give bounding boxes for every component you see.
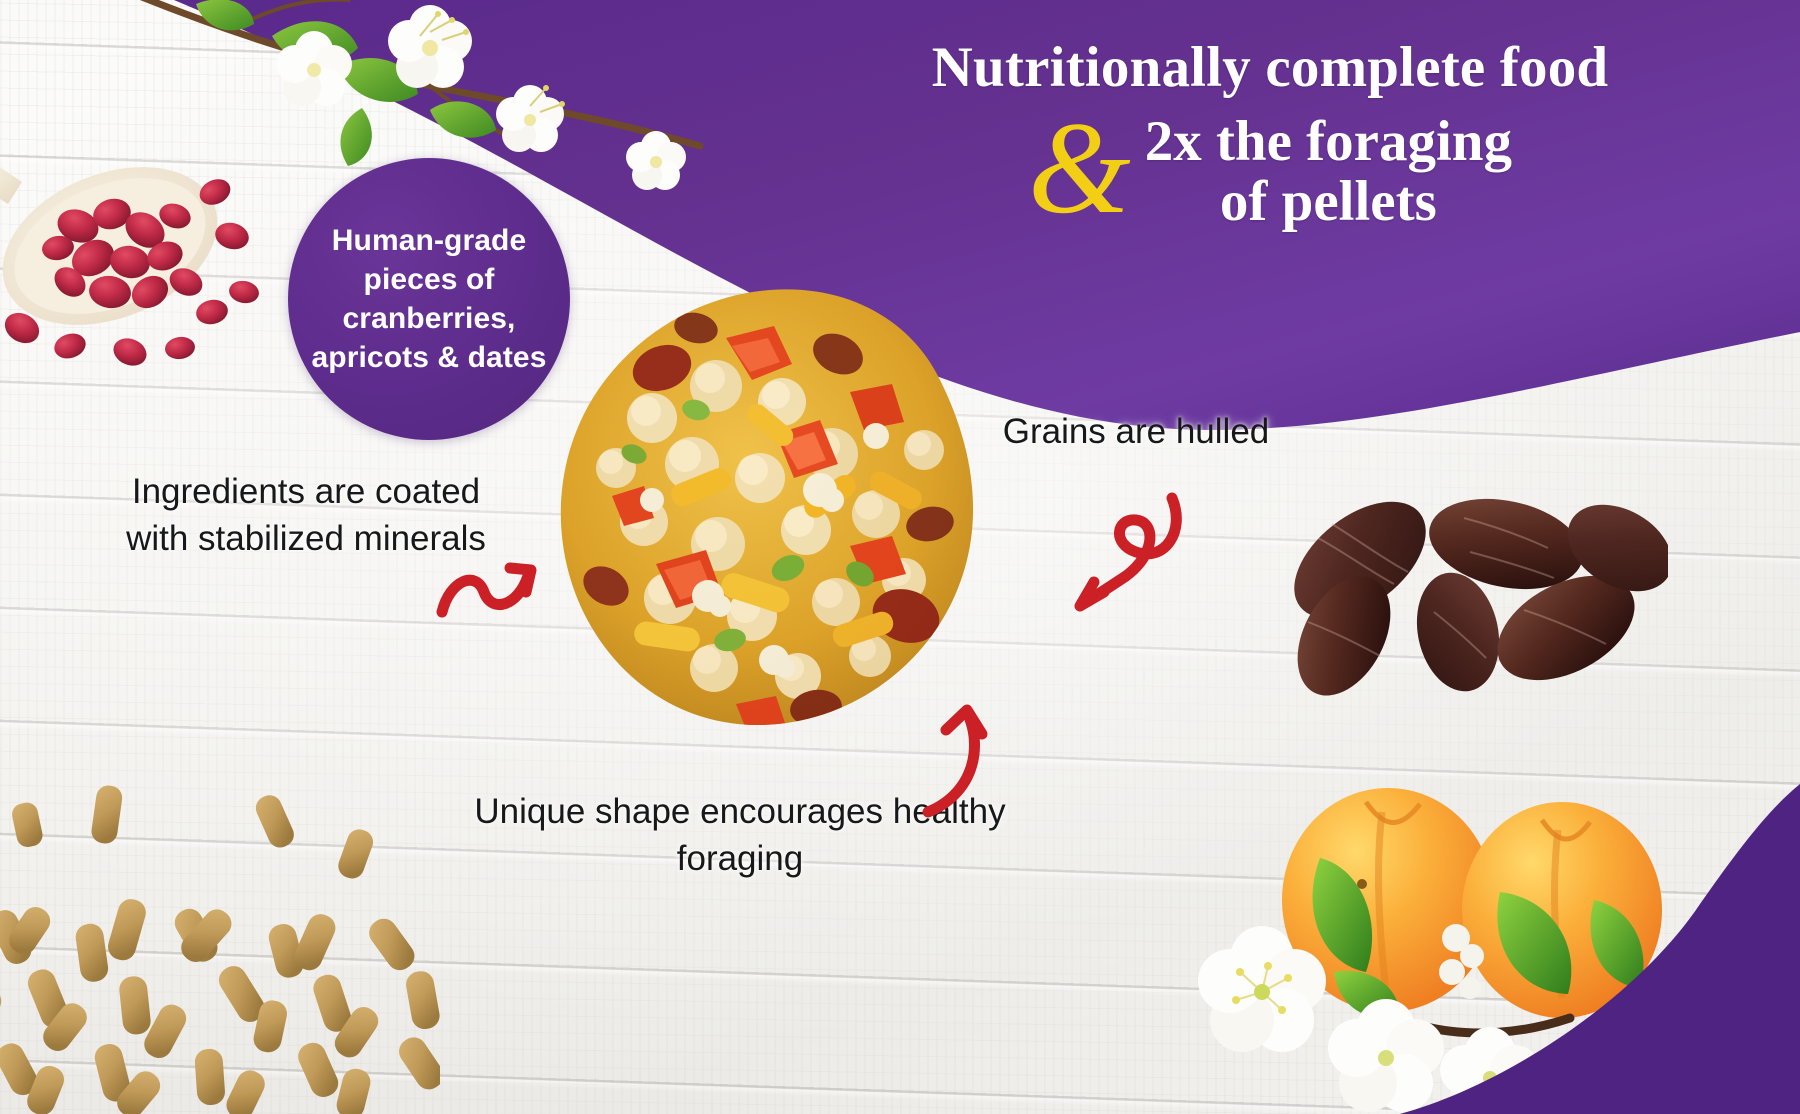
- feed-pellets-image: [0, 770, 440, 1114]
- headline-line-2: 2x the foraging: [1145, 112, 1512, 172]
- headline-line-1: Nutritionally complete food: [770, 38, 1770, 98]
- annotation-grains-hulled: Grains are hulled: [1000, 408, 1272, 455]
- purple-corner-accent: [1340, 784, 1800, 1114]
- infographic-canvas: Human-grade pieces of cranberries, apric…: [0, 0, 1800, 1114]
- foraging-food-ball-image: [520, 268, 1020, 768]
- curved-arrow-right-icon: [432, 540, 552, 630]
- badge-label: Human-grade pieces of cranberries, apric…: [288, 221, 570, 377]
- medjool-dates-image: [1248, 452, 1668, 702]
- headline-line-3: of pellets: [1145, 172, 1512, 232]
- ornamental-ampersand-icon: &: [1028, 114, 1131, 222]
- curved-arrow-up-icon: [912, 700, 1022, 820]
- headline-lines-2-3: 2x the foraging of pellets: [1145, 112, 1512, 233]
- human-grade-badge: Human-grade pieces of cranberries, apric…: [288, 158, 570, 440]
- curved-arrow-down-left-icon: [1060, 488, 1190, 628]
- headline-block: Nutritionally complete food & 2x the for…: [770, 38, 1770, 233]
